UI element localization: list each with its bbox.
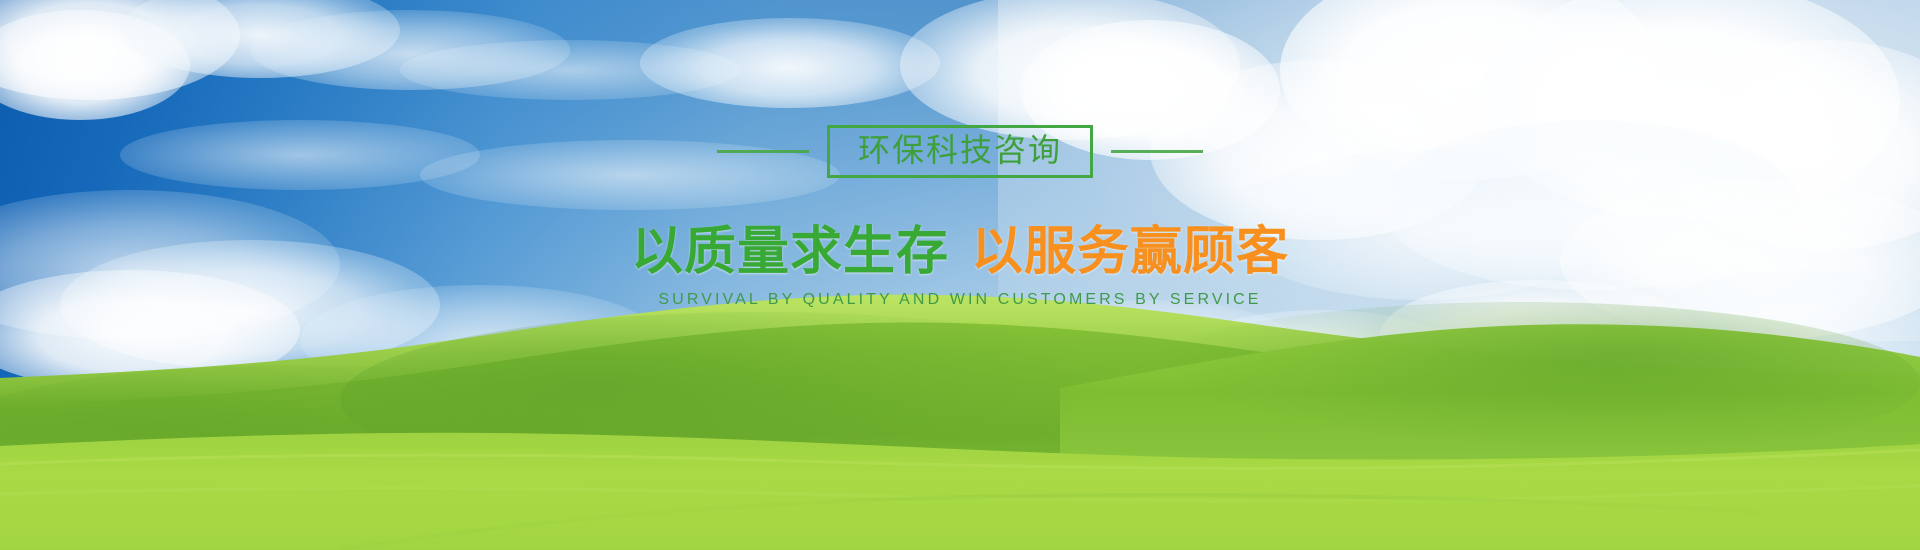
banner-content: 环保科技咨询 以质量求生存以服务赢顾客 SURVIVAL BY QUALITY … [0, 0, 1920, 550]
main-slogan: 以质量求生存以服务赢顾客 [0, 224, 1920, 280]
decorative-rule-left-icon [717, 150, 809, 153]
headline-box: 环保科技咨询 [827, 125, 1093, 178]
slogan-orange-text: 以服务赢顾客 [971, 222, 1289, 282]
slogan-green-text: 以质量求生存 [631, 222, 949, 282]
headline-text: 环保科技咨询 [858, 134, 1062, 166]
hero-banner: 环保科技咨询 以质量求生存以服务赢顾客 SURVIVAL BY QUALITY … [0, 0, 1920, 550]
headline-row: 环保科技咨询 [0, 125, 1920, 178]
decorative-rule-right-icon [1111, 150, 1203, 153]
slogan-english-subtitle: SURVIVAL BY QUALITY AND WIN CUSTOMERS BY… [0, 291, 1920, 309]
